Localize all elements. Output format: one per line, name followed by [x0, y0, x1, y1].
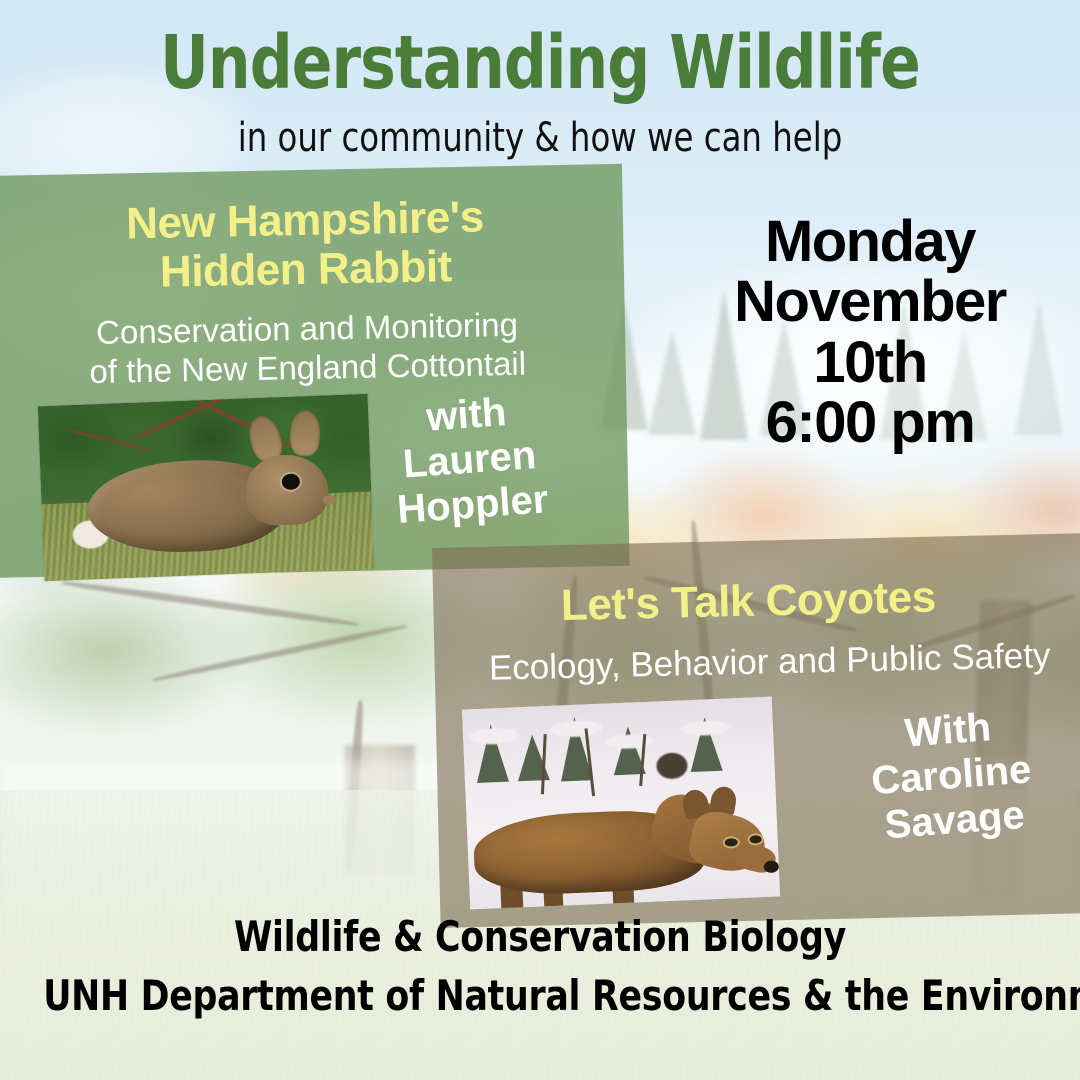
rabbit-talk-subtitle: Conservation and Monitoring of the New E… — [0, 304, 626, 394]
event-date: 10th — [700, 333, 1040, 393]
coyote-in-snow-trail-camera-photo — [462, 697, 780, 910]
event-time: 6:00 pm — [700, 393, 1040, 453]
rabbit-talk-title: New Hampshire's Hidden Rabbit — [0, 190, 624, 301]
new-england-cottontail-rabbit-photo — [38, 394, 374, 582]
poster-footer: Wildlife & Conservation Biology UNH Depa… — [0, 912, 1080, 1020]
rabbit-talk-speaker: with Lauren Hoppler — [355, 385, 584, 535]
footer-department-name: UNH Department of Natural Resources & th… — [43, 971, 1037, 1020]
coyote-talk-speaker: With Caroline Savage — [837, 700, 1066, 851]
poster-header: Understanding Wildlife in our community … — [0, 28, 1080, 161]
coyote-talk-title: Let's Talk Coyotes — [433, 568, 1080, 634]
event-poster: Understanding Wildlife in our community … — [0, 0, 1080, 1080]
event-day: Monday — [700, 212, 1040, 272]
rabbit-nose — [322, 495, 336, 504]
event-date-time: Monday November 10th 6:00 pm — [700, 212, 1040, 453]
page-title: Understanding Wildlife — [54, 28, 1026, 99]
footer-program-name: Wildlife & Conservation Biology — [43, 912, 1037, 961]
rabbit-talk-title-line2: Hidden Rabbit — [27, 240, 584, 300]
page-subtitle: in our community & how we can help — [54, 115, 1026, 161]
coyote-talk-subtitle: Ecology, Behavior and Public Safety — [434, 634, 1080, 690]
rabbit-ear — [289, 410, 320, 456]
event-month: November — [700, 272, 1040, 332]
